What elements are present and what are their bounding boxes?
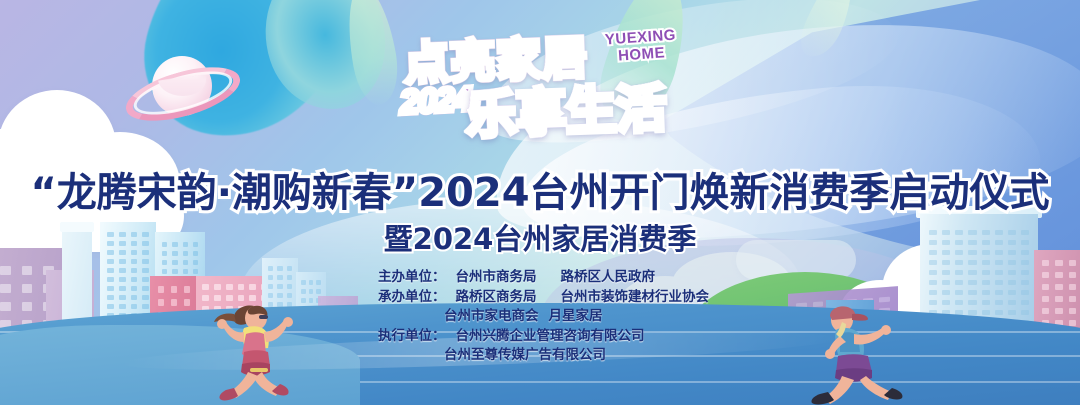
logo-year: 2024 [399,80,473,123]
organizer-row: 台州市家电商会月星家居 [378,307,778,327]
organizer-value: 台州市家电商会 [444,308,539,324]
organizer-value: 月星家居 [549,308,603,324]
organizer-block: 主办单位：台州市商务局路桥区人民政府 承办单位：路桥区商务局台州市装饰建材行业协… [378,268,778,366]
organizer-row: 台州至尊传媒广告有限公司 [378,346,778,366]
logo-english-line2: HOME [618,44,666,64]
organizer-row: 承办单位：路桥区商务局台州市装饰建材行业协会 [378,288,778,308]
female-runner-illustration [196,292,308,404]
organizer-value: 台州市商务局 [456,269,537,285]
event-logo: 点亮家居 YUEXING HOME 2024 乐享生活 [398,24,688,146]
sub-title: 暨2024台州家居消费季 [0,216,1080,258]
organizer-label: 承办单位： [378,288,446,308]
main-title: “龙腾宋韵·潮购新春”2024台州开门焕新消费季启动仪式 [0,160,1080,218]
organizer-value: 台州至尊传媒广告有限公司 [444,347,606,363]
organizer-row: 主办单位：台州市商务局路桥区人民政府 [378,268,778,288]
organizer-value: 台州兴腾企业管理咨询有限公司 [456,328,645,344]
logo-line2: 乐享生活 [465,69,667,148]
organizer-label: 执行单位： [378,327,446,347]
organizer-value: 台州市装饰建材行业协会 [561,289,710,305]
logo-english: YUEXING HOME [597,26,685,66]
organizer-row: 执行单位：台州兴腾企业管理咨询有限公司 [378,327,778,347]
organizer-value: 路桥区商务局 [456,289,537,305]
organizer-value: 路桥区人民政府 [561,269,656,285]
male-runner-illustration [806,294,926,405]
promo-banner: 点亮家居 YUEXING HOME 2024 乐享生活 “龙腾宋韵·潮购新春”2… [0,0,1080,405]
organizer-label: 主办单位： [378,268,446,288]
saturn-planet-icon [128,52,238,130]
